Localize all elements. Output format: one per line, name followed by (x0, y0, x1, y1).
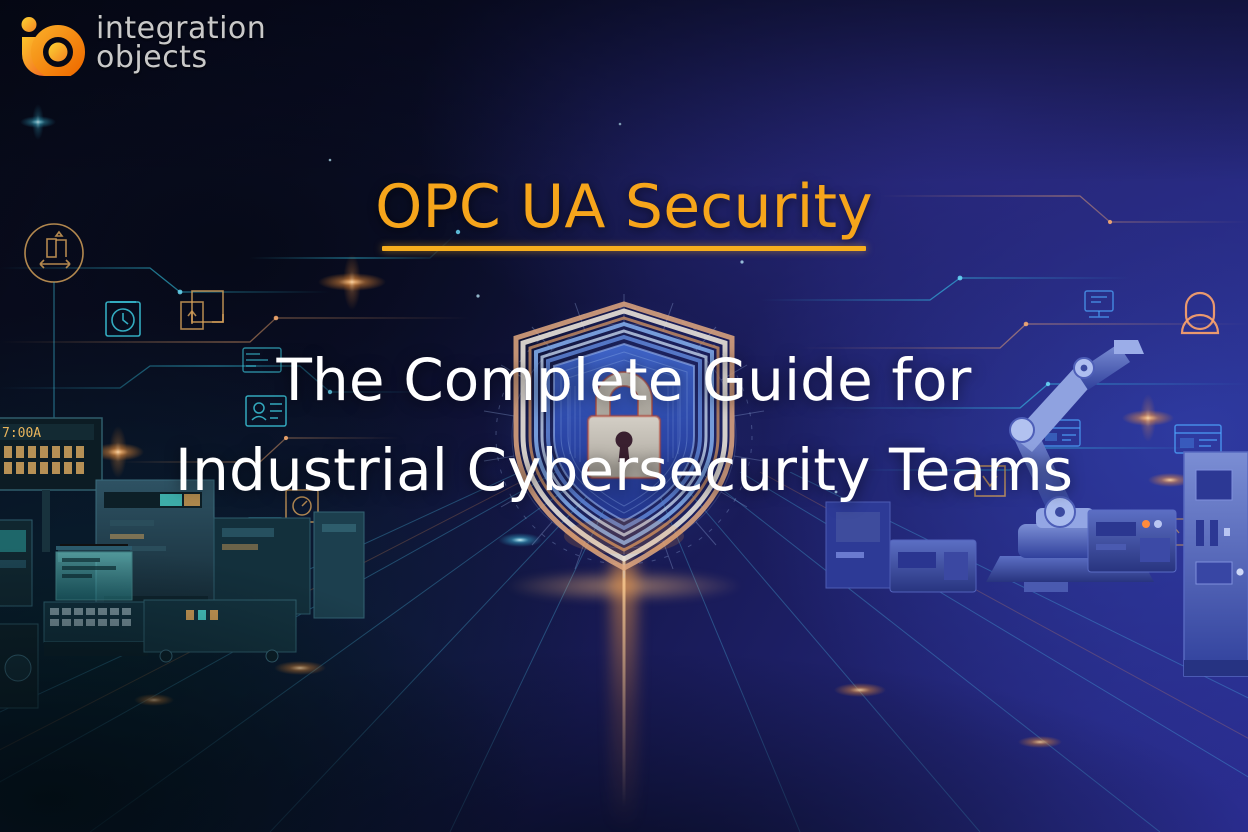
brand-wordmark: integration objects (96, 15, 266, 73)
brand-name-line2: objects (96, 44, 266, 73)
io-monogram-icon (14, 12, 86, 76)
shield-lock-icon (474, 286, 774, 586)
brand-logo[interactable]: integration objects (14, 12, 266, 76)
hero-banner: 7:00A (0, 0, 1248, 832)
